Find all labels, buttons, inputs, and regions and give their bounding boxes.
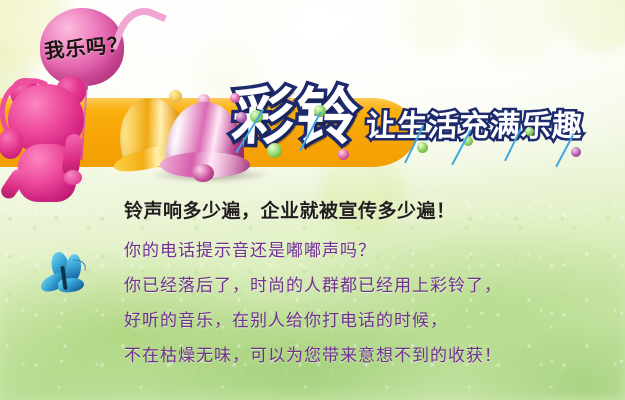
deco-sphere-pink-1: [230, 93, 240, 103]
mascot-hand: [64, 170, 82, 185]
blue-butterfly-icon: [34, 252, 96, 304]
body-line-3: 好听的音乐，在别人给你打电话的时候，: [124, 306, 448, 331]
banner-title-group: 彩铃 让生活充满乐趣: [232, 86, 583, 148]
deco-sphere-green-2: [267, 143, 282, 158]
butterfly-antenna: [72, 259, 87, 270]
body-line-1: 你的电话提示音还是嘟嘟声吗？: [124, 236, 376, 261]
deco-sphere-green-4: [417, 142, 428, 153]
deco-sphere-purple-2: [571, 147, 581, 157]
deco-sphere-pink-2: [338, 149, 349, 160]
headphone-earcup-icon: [0, 128, 23, 159]
body-line-4: 不在枯燥无味，可以为您带来意想不到的收获！: [124, 341, 502, 366]
headline-text: 铃声响多少遍，企业就被宣传多少遍！: [124, 196, 456, 223]
pink-bell-clapper: [192, 164, 214, 182]
deco-sphere-green-6: [525, 127, 534, 136]
page-subtitle: 让生活充满乐趣: [365, 112, 584, 142]
deco-sphere-purple-1: [236, 112, 247, 123]
pink-bear-mascot: [0, 72, 106, 204]
cailing-promo-banner: 我乐吗？ 彩铃 让生活充满乐趣: [0, 0, 625, 400]
body-line-2: 你已经落后了，时尚的人群都已经用上彩铃了，: [124, 271, 502, 296]
